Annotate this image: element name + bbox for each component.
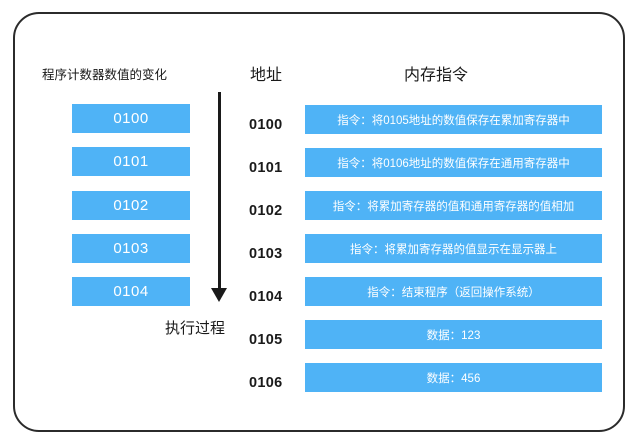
memory-address-label: 0101: [249, 160, 297, 176]
pc-value-box: 0102: [72, 191, 190, 220]
address-column-heading: 地址: [250, 61, 282, 85]
memory-data-bar: 数据：456: [305, 363, 602, 392]
memory-instruction-bar: 指令：结束程序（返回操作系统）: [305, 277, 602, 306]
pc-value-box: 0101: [72, 147, 190, 176]
execution-process-label: 执行过程: [165, 317, 225, 338]
pc-value-box: 0100: [72, 104, 190, 133]
memory-address-label: 0103: [249, 246, 297, 262]
memory-address-label: 0104: [249, 289, 297, 305]
execution-arrow-head-icon: [211, 288, 227, 302]
memory-instruction-bar: 指令：将0105地址的数值保存在累加寄存器中: [305, 105, 602, 134]
memory-data-bar: 数据：123: [305, 320, 602, 349]
memory-column-heading: 内存指令: [404, 61, 468, 85]
memory-address-label: 0105: [249, 332, 297, 348]
memory-address-label: 0106: [249, 375, 297, 391]
memory-address-label: 0102: [249, 203, 297, 219]
execution-arrow-shaft: [218, 92, 221, 290]
memory-instruction-bar: 指令：将累加寄存器的值和通用寄存器的值相加: [305, 191, 602, 220]
memory-instruction-bar: 指令：将0106地址的数值保存在通用寄存器中: [305, 148, 602, 177]
pc-column-heading: 程序计数器数值的变化: [42, 64, 167, 83]
pc-value-box: 0104: [72, 277, 190, 306]
pc-value-box: 0103: [72, 234, 190, 263]
diagram-canvas: 程序计数器数值的变化 地址 内存指令 0100 0101 0102 0103 0…: [0, 0, 640, 448]
memory-instruction-bar: 指令：将累加寄存器的值显示在显示器上: [305, 234, 602, 263]
memory-address-label: 0100: [249, 117, 297, 133]
